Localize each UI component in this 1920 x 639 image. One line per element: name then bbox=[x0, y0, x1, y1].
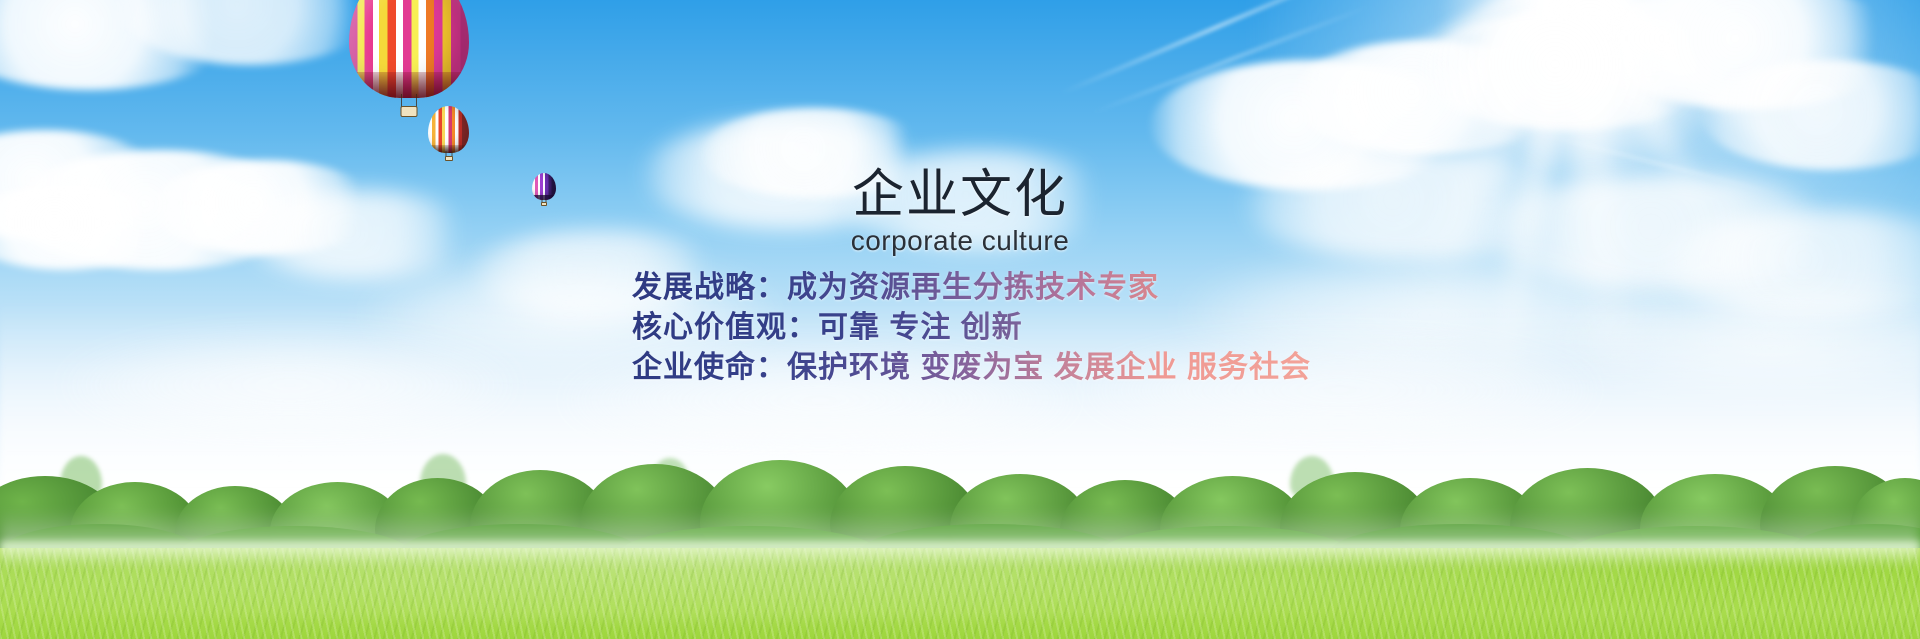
heading-group: 企业文化 corporate culture bbox=[0, 168, 1920, 257]
statement-values: 核心价值观：可靠 专注 创新 bbox=[632, 308, 1392, 348]
statement-strategy: 发展战略：成为资源再生分拣技术专家 bbox=[632, 268, 1392, 308]
page-title: 企业文化 bbox=[0, 168, 1920, 223]
culture-statements: 发展战略：成为资源再生分拣技术专家 核心价值观：可靠 专注 创新 企业使命：保护… bbox=[632, 268, 1392, 388]
page-subtitle: corporate culture bbox=[0, 225, 1920, 257]
statement-mission: 企业使命：保护环境 变废为宝 发展企业 服务社会 bbox=[632, 348, 1392, 388]
corporate-culture-banner: 企业文化 corporate culture 发展战略：成为资源再生分拣技术专家… bbox=[0, 0, 1920, 639]
banner-content: 企业文化 corporate culture 发展战略：成为资源再生分拣技术专家… bbox=[0, 0, 1920, 639]
